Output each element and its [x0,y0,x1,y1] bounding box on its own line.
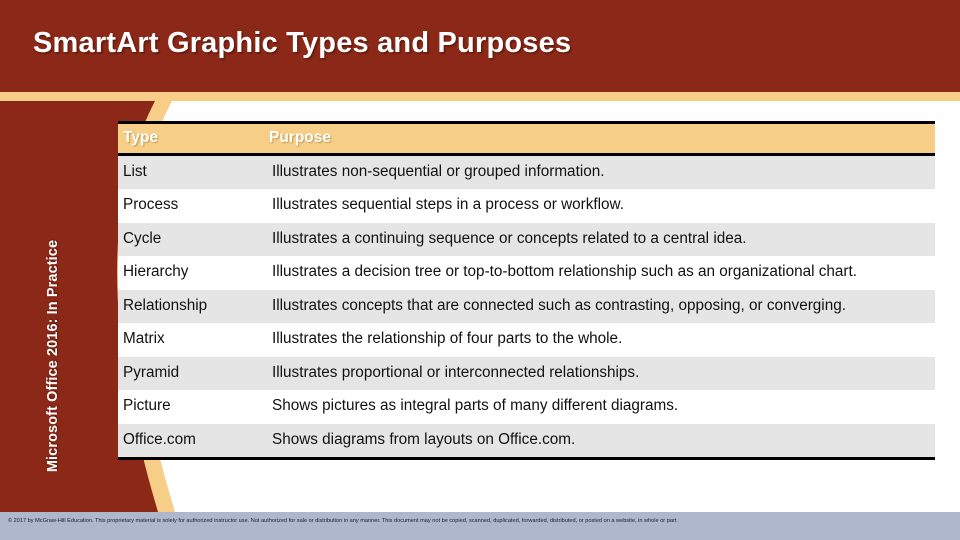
cell-purpose: Illustrates sequential steps in a proces… [264,189,935,222]
cell-type: Matrix [118,323,264,356]
table-row: Process Illustrates sequential steps in … [118,189,935,222]
cell-type: Picture [118,390,264,423]
cell-purpose: Illustrates non-sequential or grouped in… [264,155,935,190]
copyright-notice: © 2017 by McGraw-Hill Education. This pr… [8,516,952,526]
table-header-row: Type Purpose [118,123,935,155]
cell-type: Relationship [118,290,264,323]
cell-type: Cycle [118,223,264,256]
cell-purpose: Illustrates proportional or interconnect… [264,357,935,390]
cell-purpose: Illustrates a decision tree or top-to-bo… [264,256,935,289]
table-row: List Illustrates non-sequential or group… [118,155,935,190]
column-header-type: Type [118,123,264,155]
cell-purpose: Illustrates the relationship of four par… [264,323,935,356]
cell-type: Office.com [118,424,264,459]
cell-type: Hierarchy [118,256,264,289]
cell-purpose: Illustrates a continuing sequence or con… [264,223,935,256]
table-row: Cycle Illustrates a continuing sequence … [118,223,935,256]
slide: SmartArt Graphic Types and Purposes Micr… [0,0,960,540]
table-row: Matrix Illustrates the relationship of f… [118,323,935,356]
vertical-book-label: Microsoft Office 2016: In Practice [45,206,61,506]
cell-purpose: Shows diagrams from layouts on Office.co… [264,424,935,459]
column-header-purpose: Purpose [264,123,935,155]
table-body: List Illustrates non-sequential or group… [118,155,935,459]
cell-type: Process [118,189,264,222]
table-row: Pyramid Illustrates proportional or inte… [118,357,935,390]
cell-type: List [118,155,264,190]
table-header: Type Purpose [118,123,935,155]
table-row: Hierarchy Illustrates a decision tree or… [118,256,935,289]
banner-gold-rule [0,92,960,101]
table-row: Picture Shows pictures as integral parts… [118,390,935,423]
table-row: Relationship Illustrates concepts that a… [118,290,935,323]
cell-type: Pyramid [118,357,264,390]
smartart-types-table-wrapper: Type Purpose List Illustrates non-sequen… [118,121,935,460]
table-row: Office.com Shows diagrams from layouts o… [118,424,935,459]
footer-bar: © 2017 by McGraw-Hill Education. This pr… [0,512,960,540]
page-title: SmartArt Graphic Types and Purposes [33,27,571,60]
smartart-types-table: Type Purpose List Illustrates non-sequen… [118,121,935,460]
cell-purpose: Shows pictures as integral parts of many… [264,390,935,423]
cell-purpose: Illustrates concepts that are connected … [264,290,935,323]
